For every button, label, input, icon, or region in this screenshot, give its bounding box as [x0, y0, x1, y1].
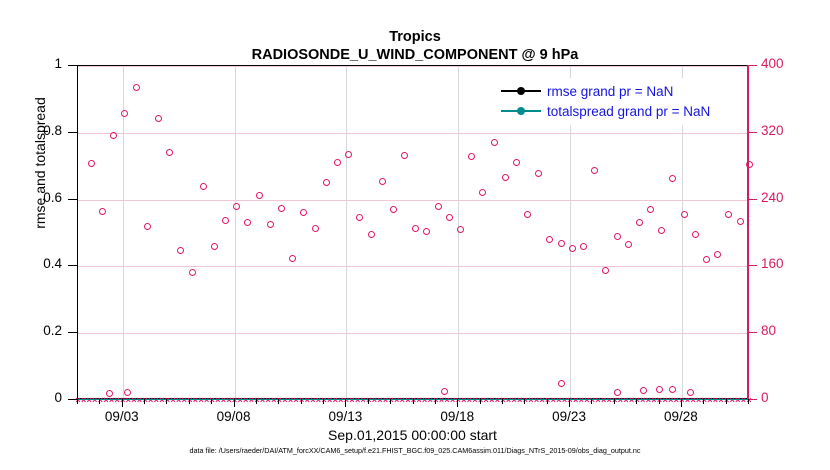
x-tick-minor [413, 399, 414, 404]
data-point-obs-possible [591, 167, 598, 174]
y-axis-label-left: rmse and totalspread [32, 33, 48, 293]
data-point-obs-possible-low [124, 389, 131, 396]
legend-dot-icon [517, 107, 525, 115]
data-point-obs-possible [99, 208, 106, 215]
x-tick-label: 09/18 [440, 409, 474, 424]
x-tick-minor [368, 399, 369, 404]
data-point-obs-possible [457, 226, 464, 233]
data-point-obs-possible [423, 228, 430, 235]
x-tick-minor [480, 399, 481, 404]
y-tick-label-right: 0 [761, 390, 769, 405]
x-tick-minor [99, 399, 100, 404]
legend: rmse grand pr = NaNtotalspread grand pr … [497, 78, 743, 125]
y-tick-label-left: 0 [0, 390, 62, 405]
y-tick-label-left: 0.6 [0, 190, 62, 205]
x-tick-minor [703, 399, 704, 404]
data-point-obs-possible [300, 209, 307, 216]
legend-item[interactable]: totalspread grand pr = NaN [501, 101, 739, 121]
y-tick-label-left: 0.2 [0, 323, 62, 338]
y-tick-right [748, 199, 757, 200]
data-point-obs-possible [625, 241, 632, 248]
gridline-vertical [235, 66, 236, 398]
y-tick-right [748, 399, 757, 400]
data-point-obs-possible [323, 179, 330, 186]
data-point-obs-possible [502, 174, 509, 181]
gridline-horizontal [78, 66, 747, 67]
data-point-obs-possible [345, 151, 352, 158]
chart-title-block: Tropics RADIOSONDE_U_WIND_COMPONENT @ 9 … [0, 28, 830, 64]
data-point-obs-possible [312, 225, 319, 232]
x-tick-minor [189, 399, 190, 404]
data-point-obs-possible [278, 205, 285, 212]
data-point-obs-possible [379, 178, 386, 185]
x-tick [457, 399, 458, 407]
data-point-obs-possible [681, 211, 688, 218]
data-point-obs-possible [222, 217, 229, 224]
data-point-obs-possible [491, 139, 498, 146]
x-tick [345, 399, 346, 407]
data-point-obs-possible [703, 256, 710, 263]
data-point-obs-possible [636, 219, 643, 226]
gridline-horizontal [78, 333, 747, 334]
x-tick-minor [435, 399, 436, 404]
y-tick-label-right: 240 [761, 190, 784, 205]
legend-item[interactable]: rmse grand pr = NaN [501, 81, 739, 101]
y-tick-left [68, 65, 77, 66]
y-tick-label-left: 1 [0, 56, 62, 71]
data-point-obs-possible [144, 223, 151, 230]
x-tick-minor [659, 399, 660, 404]
data-point-obs-possible [479, 189, 486, 196]
data-point-obs-possible [725, 211, 732, 218]
series-line-totalspread [78, 399, 749, 400]
x-tick [569, 399, 570, 407]
y-tick-left [68, 199, 77, 200]
data-point-obs-possible [412, 225, 419, 232]
x-tick-minor [524, 399, 525, 404]
y-tick-left [68, 399, 77, 400]
y-tick-right [748, 332, 757, 333]
data-point-obs-possible-low [614, 389, 621, 396]
x-tick-minor [323, 399, 324, 404]
gridline-vertical [346, 66, 347, 398]
gridline-horizontal [78, 200, 747, 201]
data-point-obs-possible-low [640, 387, 647, 394]
y-tick-label-right: 320 [761, 123, 784, 138]
x-tick-label: 09/08 [217, 409, 251, 424]
data-point-obs-possible [177, 247, 184, 254]
x-tick [122, 399, 123, 407]
data-point-obs-possible [524, 211, 531, 218]
data-point-obs-possible [334, 159, 341, 166]
x-tick-minor [502, 399, 503, 404]
data-point-obs-possible [446, 214, 453, 221]
data-point-obs-possible [535, 170, 542, 177]
y-tick-label-right: 80 [761, 323, 776, 338]
legend-marker-icon [501, 104, 541, 118]
data-point-obs-possible [211, 243, 218, 250]
data-point-obs-possible-low [656, 386, 663, 393]
x-tick-label: 09/28 [664, 409, 698, 424]
legend-label: rmse grand pr = NaN [547, 84, 673, 99]
right-axis-spine [747, 65, 749, 400]
x-tick [681, 399, 682, 407]
data-point-obs-possible [166, 149, 173, 156]
x-tick-minor [77, 399, 78, 404]
x-tick-minor [547, 399, 548, 404]
data-point-obs-possible [267, 221, 274, 228]
x-tick-minor [591, 399, 592, 404]
x-tick [234, 399, 235, 407]
data-point-obs-possible [390, 206, 397, 213]
gridline-horizontal [78, 133, 747, 134]
data-point-obs-possible [669, 175, 676, 182]
page-title: Tropics [0, 28, 830, 46]
data-point-obs-possible [692, 231, 699, 238]
y-tick-label-left: 0.4 [0, 256, 62, 271]
page-subtitle: RADIOSONDE_U_WIND_COMPONENT @ 9 hPa [0, 46, 830, 64]
data-point-obs-possible [133, 84, 140, 91]
data-point-obs-possible [647, 206, 654, 213]
data-point-obs-possible [368, 231, 375, 238]
gridline-horizontal [78, 266, 747, 267]
x-tick-minor [748, 399, 749, 404]
data-file-caption: data file: /Users/raeder/DAI/ATM_forcXX/… [0, 446, 830, 455]
data-point-obs-possible [435, 203, 442, 210]
x-tick-label: 09/03 [105, 409, 139, 424]
data-point-obs-possible [546, 236, 553, 243]
x-tick-minor [144, 399, 145, 404]
data-point-obs-possible [233, 203, 240, 210]
x-axis-label: Sep.01,2015 00:00:00 start [77, 427, 748, 443]
data-point-obs-possible [602, 267, 609, 274]
data-point-obs-possible [289, 255, 296, 262]
data-point-obs-possible-low [558, 380, 565, 387]
y-tick-right [748, 132, 757, 133]
data-point-obs-possible [580, 243, 587, 250]
legend-dot-icon [517, 87, 525, 95]
x-tick-minor [278, 399, 279, 404]
y-tick-left [68, 265, 77, 266]
data-point-obs-possible [88, 160, 95, 167]
y-tick-left [68, 332, 77, 333]
data-point-obs-possible-low [106, 390, 113, 397]
y-tick-right [748, 65, 757, 66]
data-point-obs-possible [569, 245, 576, 252]
x-tick-minor [636, 399, 637, 404]
x-tick-minor [726, 399, 727, 404]
data-point-obs-possible [256, 192, 263, 199]
chart-page: Tropics RADIOSONDE_U_WIND_COMPONENT @ 9 … [0, 0, 830, 470]
x-tick-label: 09/13 [328, 409, 362, 424]
x-tick-minor [614, 399, 615, 404]
data-point-obs-possible [614, 233, 621, 240]
data-point-obs-possible [558, 240, 565, 247]
data-point-obs-possible-low [669, 386, 676, 393]
data-point-obs-possible [737, 218, 744, 225]
data-point-obs-possible [356, 214, 363, 221]
y-tick-label-right: 160 [761, 256, 784, 271]
data-point-obs-possible [513, 159, 520, 166]
data-point-obs-possible [121, 110, 128, 117]
x-tick-minor [256, 399, 257, 404]
legend-marker-icon [501, 84, 541, 98]
y-tick-label-left: 0.8 [0, 123, 62, 138]
y-tick-label-right: 400 [761, 56, 784, 71]
x-tick-label: 09/23 [552, 409, 586, 424]
data-point-obs-possible [468, 153, 475, 160]
data-point-obs-possible [189, 269, 196, 276]
x-tick-minor [211, 399, 212, 404]
data-point-obs-possible [200, 183, 207, 190]
y-tick-right [748, 265, 757, 266]
data-point-obs-possible [244, 219, 251, 226]
x-tick-minor [166, 399, 167, 404]
data-point-obs-possible [658, 227, 665, 234]
x-tick-minor [301, 399, 302, 404]
legend-label: totalspread grand pr = NaN [547, 104, 710, 119]
data-point-obs-possible [714, 251, 721, 258]
x-tick-minor [390, 399, 391, 404]
y-tick-left [68, 132, 77, 133]
data-point-obs-possible [401, 152, 408, 159]
data-point-obs-possible [155, 115, 162, 122]
data-point-obs-possible [110, 132, 117, 139]
